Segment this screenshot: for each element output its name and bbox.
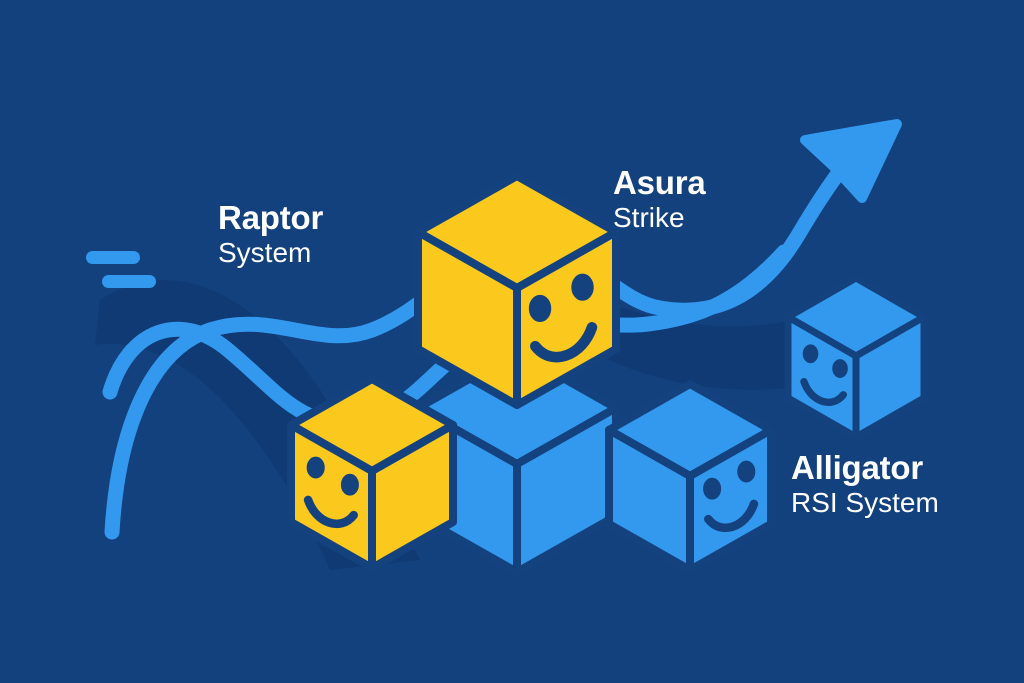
cube-alligator-back (788, 278, 924, 437)
label-raptor-title: Raptor (218, 200, 323, 237)
cube-raptor (291, 379, 453, 568)
label-asura-title: Asura (613, 165, 706, 202)
dash-bottom-icon (102, 275, 156, 288)
label-alligator: Alligator RSI System (791, 450, 939, 518)
label-alligator-subtitle: RSI System (791, 487, 939, 518)
cube-alligator-front (609, 384, 771, 570)
label-raptor-subtitle: System (218, 237, 323, 268)
label-alligator-title: Alligator (791, 450, 939, 487)
label-asura: Asura Strike (613, 165, 706, 233)
isometric-cubes-artwork (0, 0, 1024, 683)
label-raptor: Raptor System (218, 200, 323, 268)
label-asura-subtitle: Strike (613, 202, 706, 233)
dash-top-icon (86, 251, 140, 264)
illustration-canvas: Raptor System Asura Strike Alligator RSI… (0, 0, 1024, 683)
